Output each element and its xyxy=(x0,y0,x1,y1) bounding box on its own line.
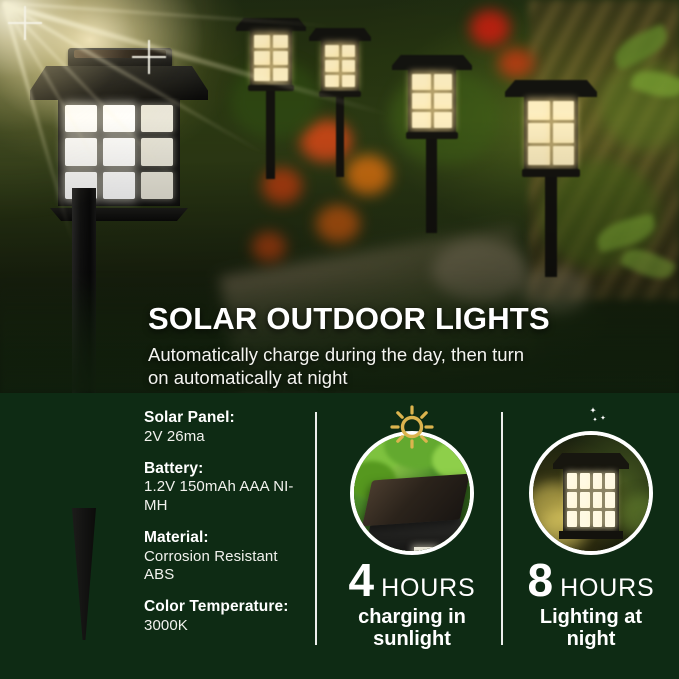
product-marketing-image: SOLAR OUTDOOR LIGHTS Automatically charg… xyxy=(0,0,679,679)
charging-description-line2: sunlight xyxy=(327,628,497,650)
lantern-pane xyxy=(580,511,590,527)
spec-row: Color Temperature: 3000K xyxy=(144,598,309,636)
spec-panel: Solar Panel: 2V 26ma Battery: 1.2V 150mA… xyxy=(0,393,679,679)
lantern-pane xyxy=(567,473,577,489)
spec-label: Battery: xyxy=(144,460,309,479)
lighting-description-line2: night xyxy=(506,628,676,650)
sun-icon xyxy=(384,403,440,449)
hero-text-block: SOLAR OUTDOOR LIGHTS Automatically charg… xyxy=(148,303,668,390)
lantern-roof xyxy=(553,453,629,469)
solar-panel-surface xyxy=(362,474,470,527)
page-title: SOLAR OUTDOOR LIGHTS xyxy=(148,303,668,336)
feature-badge-zone xyxy=(506,403,676,565)
spec-label: Material: xyxy=(144,529,309,548)
lantern-light-body xyxy=(563,469,619,531)
lit-lantern xyxy=(553,453,629,549)
feature-lighting: 8 HOURS Lighting at night xyxy=(506,403,676,651)
charging-badge-image xyxy=(350,431,474,555)
spec-label: Solar Panel: xyxy=(144,409,309,428)
lantern-pane xyxy=(593,492,603,508)
moon-stars-icon xyxy=(563,403,619,449)
spec-value: 2V 26ma xyxy=(144,428,309,447)
spec-row: Solar Panel: 2V 26ma xyxy=(144,409,309,447)
lighting-badge-image xyxy=(529,431,653,555)
hero-subtitle: Automatically charge during the day, the… xyxy=(148,343,548,390)
charging-hours-number: 4 xyxy=(349,559,374,603)
lighting-description: Lighting at night xyxy=(506,606,676,651)
charging-description: charging in sunlight xyxy=(327,606,497,651)
lighting-hours-number: 8 xyxy=(528,559,553,603)
feature-charging: 4 HOURS charging in sunlight xyxy=(327,403,497,651)
charging-hours-unit: HOURS xyxy=(381,574,475,603)
lantern-pane xyxy=(580,492,590,508)
spec-row: Material: Corrosion Resistant ABS xyxy=(144,529,309,585)
column-divider xyxy=(501,412,503,645)
spec-label: Color Temperature: xyxy=(144,598,309,617)
spec-row: Battery: 1.2V 150mAh AAA NI-MH xyxy=(144,460,309,516)
lighting-description-line1: Lighting at xyxy=(506,606,676,628)
lantern-base xyxy=(559,531,623,539)
lantern-pane xyxy=(605,511,615,527)
lamp-window xyxy=(414,547,436,555)
lantern-pane xyxy=(605,492,615,508)
lighting-hours-line: 8 HOURS xyxy=(506,559,676,603)
spec-value: 1.2V 150mAh AAA NI-MH xyxy=(144,478,309,515)
lantern-pane xyxy=(580,473,590,489)
lantern-pane xyxy=(593,473,603,489)
charging-description-line1: charging in xyxy=(327,606,497,628)
lighting-hours-unit: HOURS xyxy=(560,574,654,603)
lantern-pane xyxy=(605,473,615,489)
lantern-pane xyxy=(567,511,577,527)
charging-hours-line: 4 HOURS xyxy=(327,559,497,603)
lantern-pane xyxy=(567,492,577,508)
specifications-list: Solar Panel: 2V 26ma Battery: 1.2V 150mA… xyxy=(144,409,309,648)
hero-subtitle-line1: Automatically charge during the day, the… xyxy=(148,344,524,365)
spec-value: Corrosion Resistant ABS xyxy=(144,548,309,585)
feature-badge-zone xyxy=(327,403,497,565)
hero-subtitle-line2: on automatically at night xyxy=(148,367,348,388)
hero-photo: SOLAR OUTDOOR LIGHTS Automatically charg… xyxy=(0,0,679,393)
column-divider xyxy=(315,412,317,645)
lantern-pane xyxy=(593,511,603,527)
spec-value: 3000K xyxy=(144,617,309,636)
